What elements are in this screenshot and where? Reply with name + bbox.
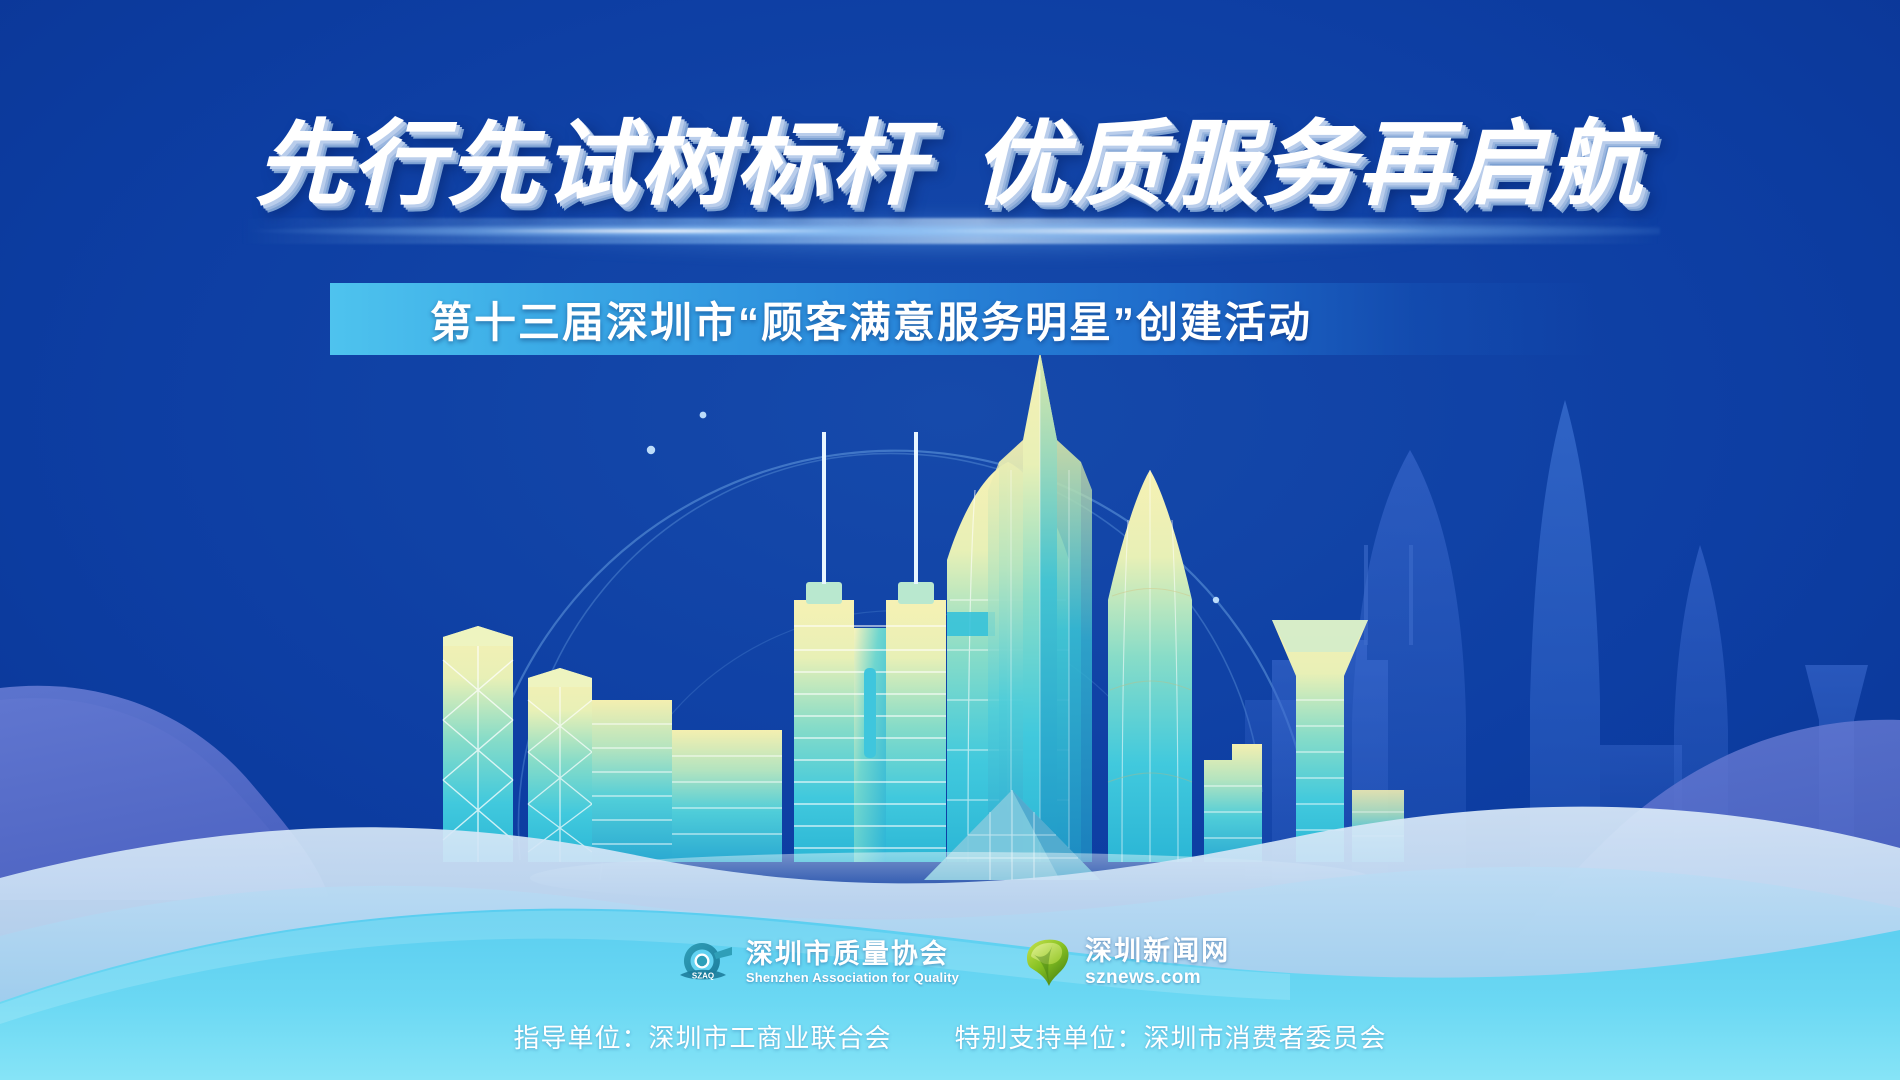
promo-banner: 先行先试树标杆优质服务再启航 第十三届深圳市“顾客满意服务明星”创建活动: [0, 0, 1900, 1080]
logo-text-block: 深圳市质量协会 Shenzhen Association for Quality: [746, 941, 959, 984]
logo-name-en: sznews.com: [1085, 968, 1230, 987]
logo-name-cn: 深圳市质量协会: [746, 941, 959, 968]
logo-text-block: 深圳新闻网 sznews.com: [1085, 938, 1230, 987]
footer-guidance-unit: 指导单位：深圳市工商业联合会: [514, 1023, 892, 1053]
subtitle-text: 第十三届深圳市“顾客满意服务明星”创建活动: [430, 289, 1312, 350]
headline-light-streak: [240, 218, 1660, 244]
tower-lattice-mid: [528, 668, 592, 862]
headline-container: 先行先试树标杆优质服务再启航: [0, 112, 1900, 216]
logo-shenzhen-association-for-quality: SZAQ 深圳市质量协会 Shenzhen Association for Qu…: [670, 937, 959, 987]
svg-text:SZAQ: SZAQ: [692, 972, 714, 981]
tower-low-block: [672, 730, 782, 862]
headline-part-1: 先行先试树标杆: [255, 112, 927, 216]
page-title: 先行先试树标杆优质服务再启航: [255, 112, 1645, 216]
logo-row: SZAQ 深圳市质量协会 Shenzhen Association for Qu…: [0, 936, 1900, 988]
subtitle-banner: 第十三届深圳市“顾客满意服务明星”创建活动: [330, 283, 1595, 355]
logo-sznews: 深圳新闻网 sznews.com: [1019, 936, 1230, 988]
logo-name-cn: 深圳新闻网: [1085, 938, 1230, 965]
tower-slab-stepped: [592, 700, 672, 862]
logo-name-en: Shenzhen Association for Quality: [746, 971, 959, 984]
tower-small-step: [1204, 744, 1262, 862]
szaq-circle-logo-icon: SZAQ: [670, 937, 736, 987]
footer-support-unit: 特别支持单位：深圳市消费者委员会: [954, 1023, 1386, 1053]
tower-lattice-left: [443, 626, 513, 862]
sznews-leaf-logo-icon: [1019, 936, 1075, 988]
footer-organizers: 指导单位：深圳市工商业联合会 特别支持单位：深圳市消费者委员会: [0, 1018, 1900, 1055]
headline-part-2: 优质服务再启航: [973, 112, 1645, 216]
